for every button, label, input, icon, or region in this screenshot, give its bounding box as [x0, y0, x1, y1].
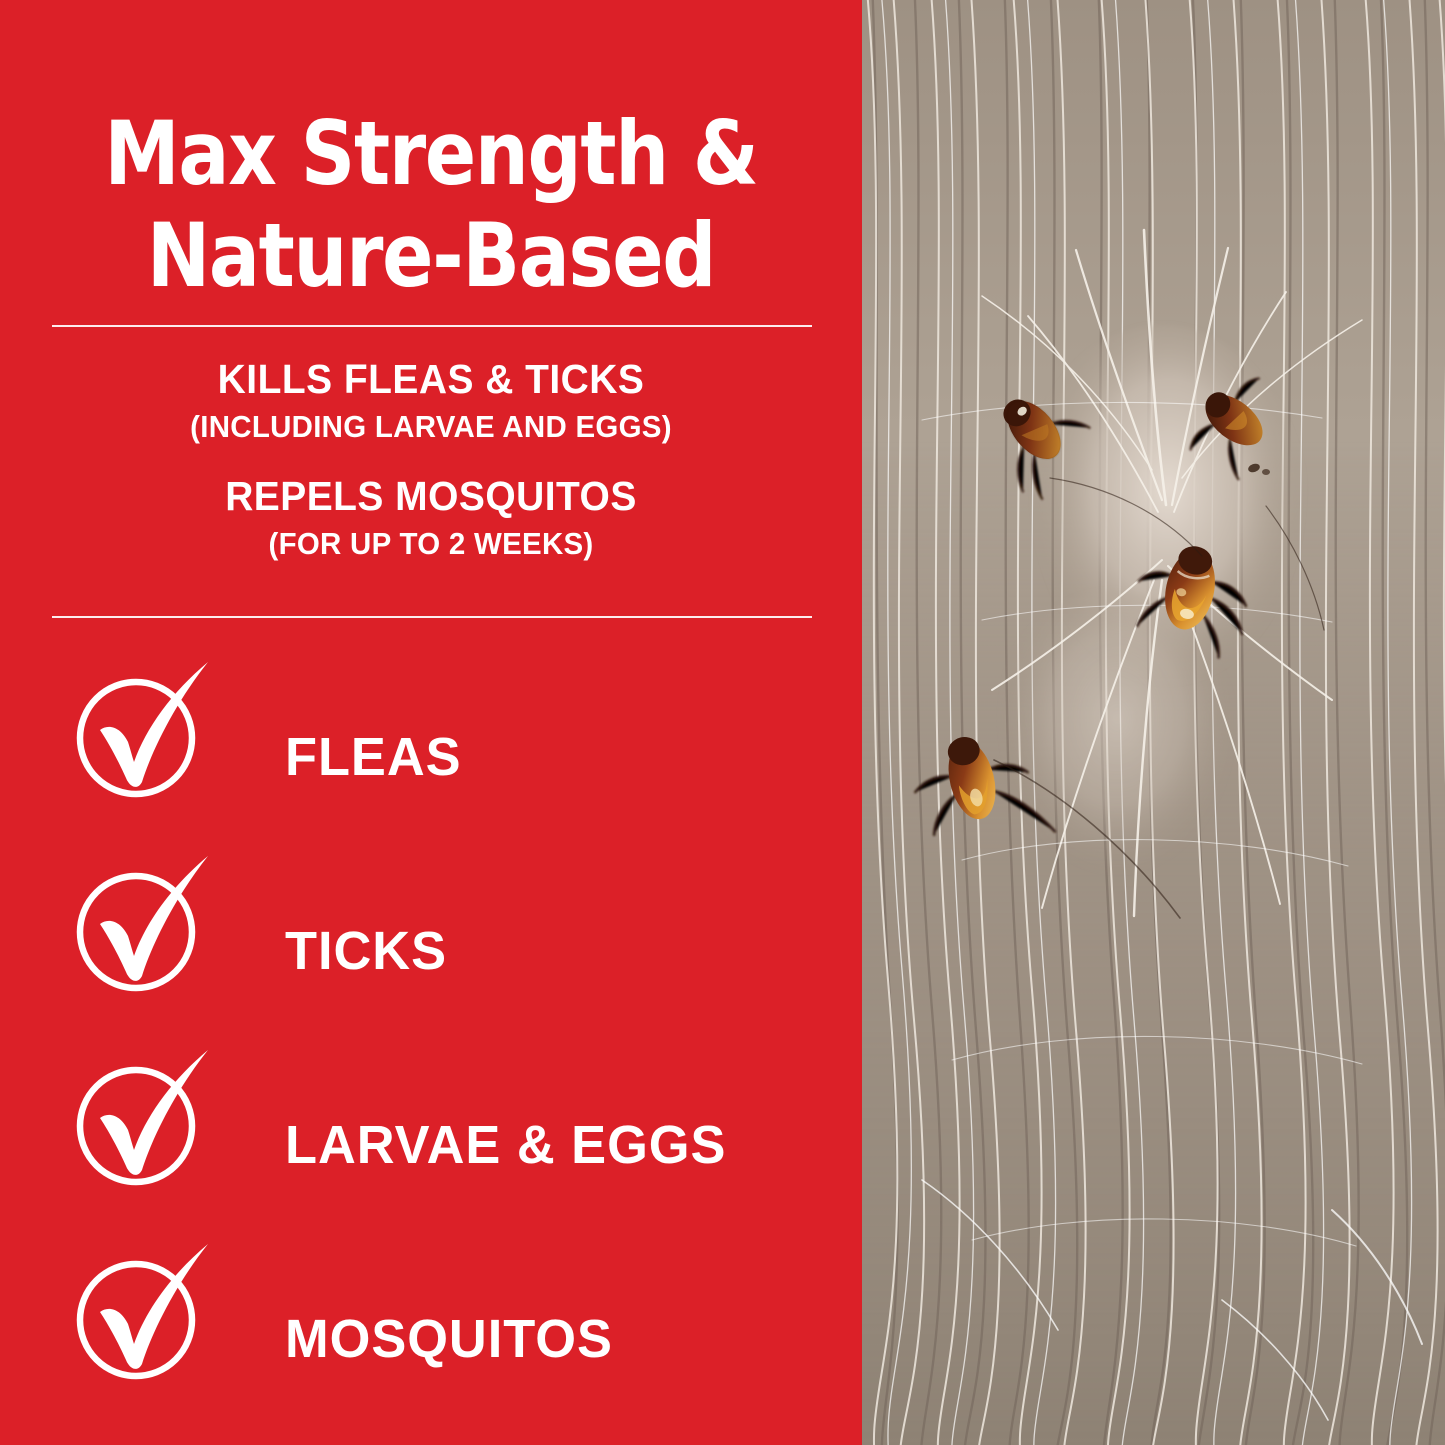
list-item-label: TICKS: [285, 924, 447, 978]
red-info-panel: Max Strength & Nature-Based KILLS FLEAS …: [0, 0, 862, 1445]
list-item-label: LARVAE & EGGS: [285, 1118, 726, 1172]
claim-sub-text: (FOR UP TO 2 WEEKS): [22, 524, 841, 564]
claim-main-text: REPELS MOSQUITOS: [22, 473, 841, 520]
flea-on-fur-photo: [862, 0, 1445, 1445]
list-item: TICKS: [0, 854, 862, 1048]
check-circle-icon: [72, 860, 208, 996]
list-item: LARVAE & EGGS: [0, 1048, 862, 1242]
divider-bottom: [52, 616, 812, 618]
check-circle-icon: [72, 1054, 208, 1190]
list-item-label: MOSQUITOS: [285, 1312, 613, 1366]
list-item: MOSQUITOS: [0, 1242, 862, 1436]
claims-block: KILLS FLEAS & TICKS (INCLUDING LARVAE AN…: [0, 356, 862, 564]
benefits-checklist: FLEAS TICKS LARVAE & E: [0, 660, 862, 1436]
check-circle-icon: [72, 666, 208, 802]
claim-sub-text: (INCLUDING LARVAE AND EGGS): [22, 407, 841, 447]
list-item: FLEAS: [0, 660, 862, 854]
page-title: Max Strength & Nature-Based: [60, 103, 801, 307]
divider-top: [52, 325, 812, 327]
marketing-image-canvas: Max Strength & Nature-Based KILLS FLEAS …: [0, 0, 1445, 1445]
check-circle-icon: [72, 1248, 208, 1384]
list-item-label: FLEAS: [285, 730, 462, 784]
claim-mosquitos: REPELS MOSQUITOS (FOR UP TO 2 WEEKS): [0, 473, 862, 564]
claim-main-text: KILLS FLEAS & TICKS: [22, 356, 841, 403]
claim-fleas-ticks: KILLS FLEAS & TICKS (INCLUDING LARVAE AN…: [0, 356, 862, 447]
